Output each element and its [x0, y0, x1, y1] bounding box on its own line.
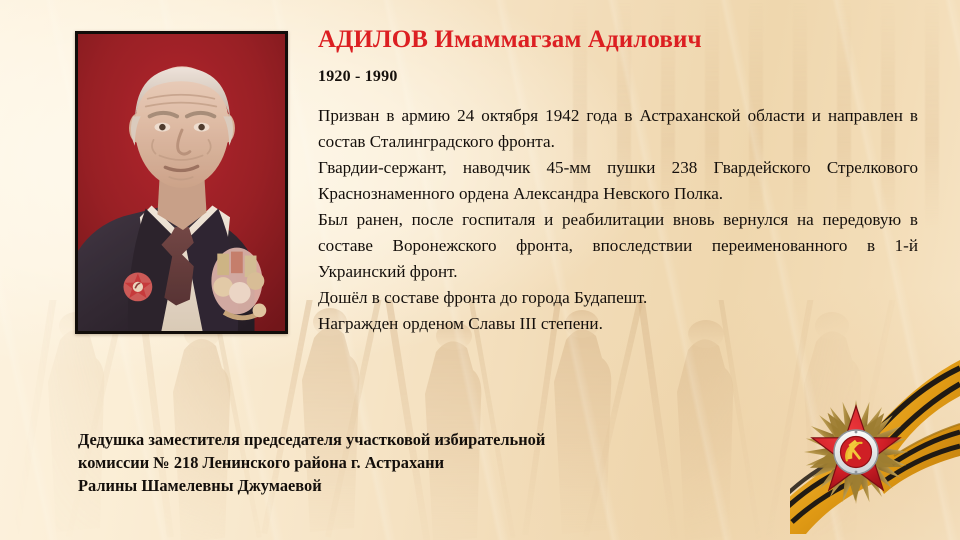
biography-paragraph-5: Награжден орденом Славы III степени.: [318, 311, 918, 337]
life-dates: 1920 - 1990: [318, 68, 398, 86]
biography-paragraph-2: Гвардии-сержант, наводчик 45-мм пушки 23…: [318, 155, 918, 207]
order-of-patriotic-war-icon: [790, 352, 960, 540]
caption-line-1: Дедушка заместителя председателя участко…: [78, 428, 678, 451]
veteran-portrait-photo: [75, 31, 288, 334]
caption-line-3: Ралины Шамелевны Джумаевой: [78, 474, 678, 497]
page-title: АДИЛОВ Имаммагзам Адилович: [318, 26, 918, 54]
biography-paragraph-3: Был ранен, после госпиталя и реабилитаци…: [318, 207, 918, 285]
biography-text: Призван в армию 24 октября 1942 года в А…: [318, 103, 918, 337]
biography-paragraph-4: Дошёл в составе фронта до города Будапеш…: [318, 285, 918, 311]
caption-line-2: комиссии № 218 Ленинского района г. Астр…: [78, 451, 678, 474]
biography-paragraph-1: Призван в армию 24 октября 1942 года в А…: [318, 103, 918, 155]
memorial-slide: АДИЛОВ Имаммагзам Адилович 1920 - 1990 П…: [0, 0, 960, 540]
attribution-caption: Дедушка заместителя председателя участко…: [78, 428, 678, 497]
